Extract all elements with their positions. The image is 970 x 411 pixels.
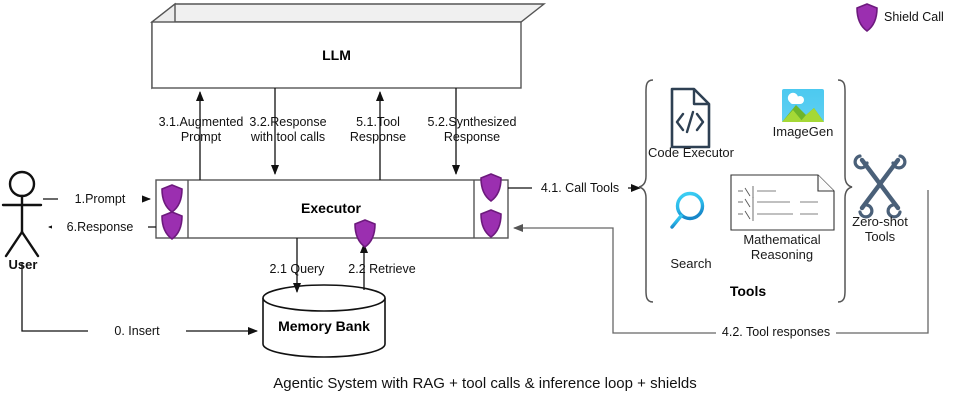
magnifier-icon bbox=[672, 194, 703, 228]
insert-path bbox=[22, 262, 257, 331]
edge-label-call-tools: 4.1. Call Tools bbox=[532, 181, 628, 195]
llm-node-shape bbox=[152, 4, 544, 88]
edge-label-synthesized-line2: Response bbox=[416, 130, 528, 144]
code-document-icon bbox=[672, 89, 709, 147]
formula-document-icon bbox=[731, 175, 834, 230]
tool-label-math-reasoning-line2: Reasoning bbox=[726, 247, 838, 262]
legend-shield-label: Shield Call bbox=[884, 10, 970, 24]
edge-label-retrieve: 2.2 Retrieve bbox=[334, 262, 430, 276]
diagram-canvas: LLM Executor Memory Bank User 3.1.Augmen… bbox=[0, 0, 970, 411]
shield-icon-memory bbox=[355, 220, 375, 247]
edge-label-synthesized-line1: 5.2.Synthesized bbox=[416, 115, 528, 129]
edge-label-response-tool-calls-line1: 3.2.Response bbox=[232, 115, 344, 129]
user-actor-shape bbox=[3, 172, 41, 256]
shield-icon-legend bbox=[857, 4, 877, 31]
diagram-caption: Agentic System with RAG + tool calls & i… bbox=[0, 377, 970, 391]
user-label: User bbox=[0, 258, 46, 272]
executor-label: Executor bbox=[188, 200, 474, 216]
tools-group-label: Tools bbox=[700, 283, 796, 299]
edge-label-query: 2.1 Query bbox=[254, 262, 340, 276]
edge-label-tool-response-line1: 5.1.Tool bbox=[330, 115, 426, 129]
edge-label-prompt: 1.Prompt bbox=[58, 192, 142, 206]
memory-bank-label: Memory Bank bbox=[263, 318, 385, 334]
tool-label-search: Search bbox=[660, 256, 722, 271]
image-picture-icon bbox=[782, 89, 824, 122]
edge-label-insert: 0. Insert bbox=[88, 324, 186, 338]
tool-label-math-reasoning-line1: Mathematical bbox=[726, 232, 838, 247]
edge-label-response-tool-calls-line2: with tool calls bbox=[232, 130, 344, 144]
edge-label-tool-responses: 4.2. Tool responses bbox=[716, 325, 836, 339]
llm-label: LLM bbox=[152, 47, 521, 63]
edge-label-response: 6.Response bbox=[52, 220, 148, 234]
crossed-wrenches-icon bbox=[855, 156, 905, 217]
edge-label-tool-response-line2: Response bbox=[330, 130, 426, 144]
tool-label-code-executor: Code Executor bbox=[644, 145, 738, 160]
tool-label-zero-shot-line2: Tools bbox=[838, 229, 922, 244]
tool-label-zero-shot-line1: Zero-shot bbox=[838, 214, 922, 229]
tool-label-imagegen: ImageGen bbox=[768, 124, 838, 139]
